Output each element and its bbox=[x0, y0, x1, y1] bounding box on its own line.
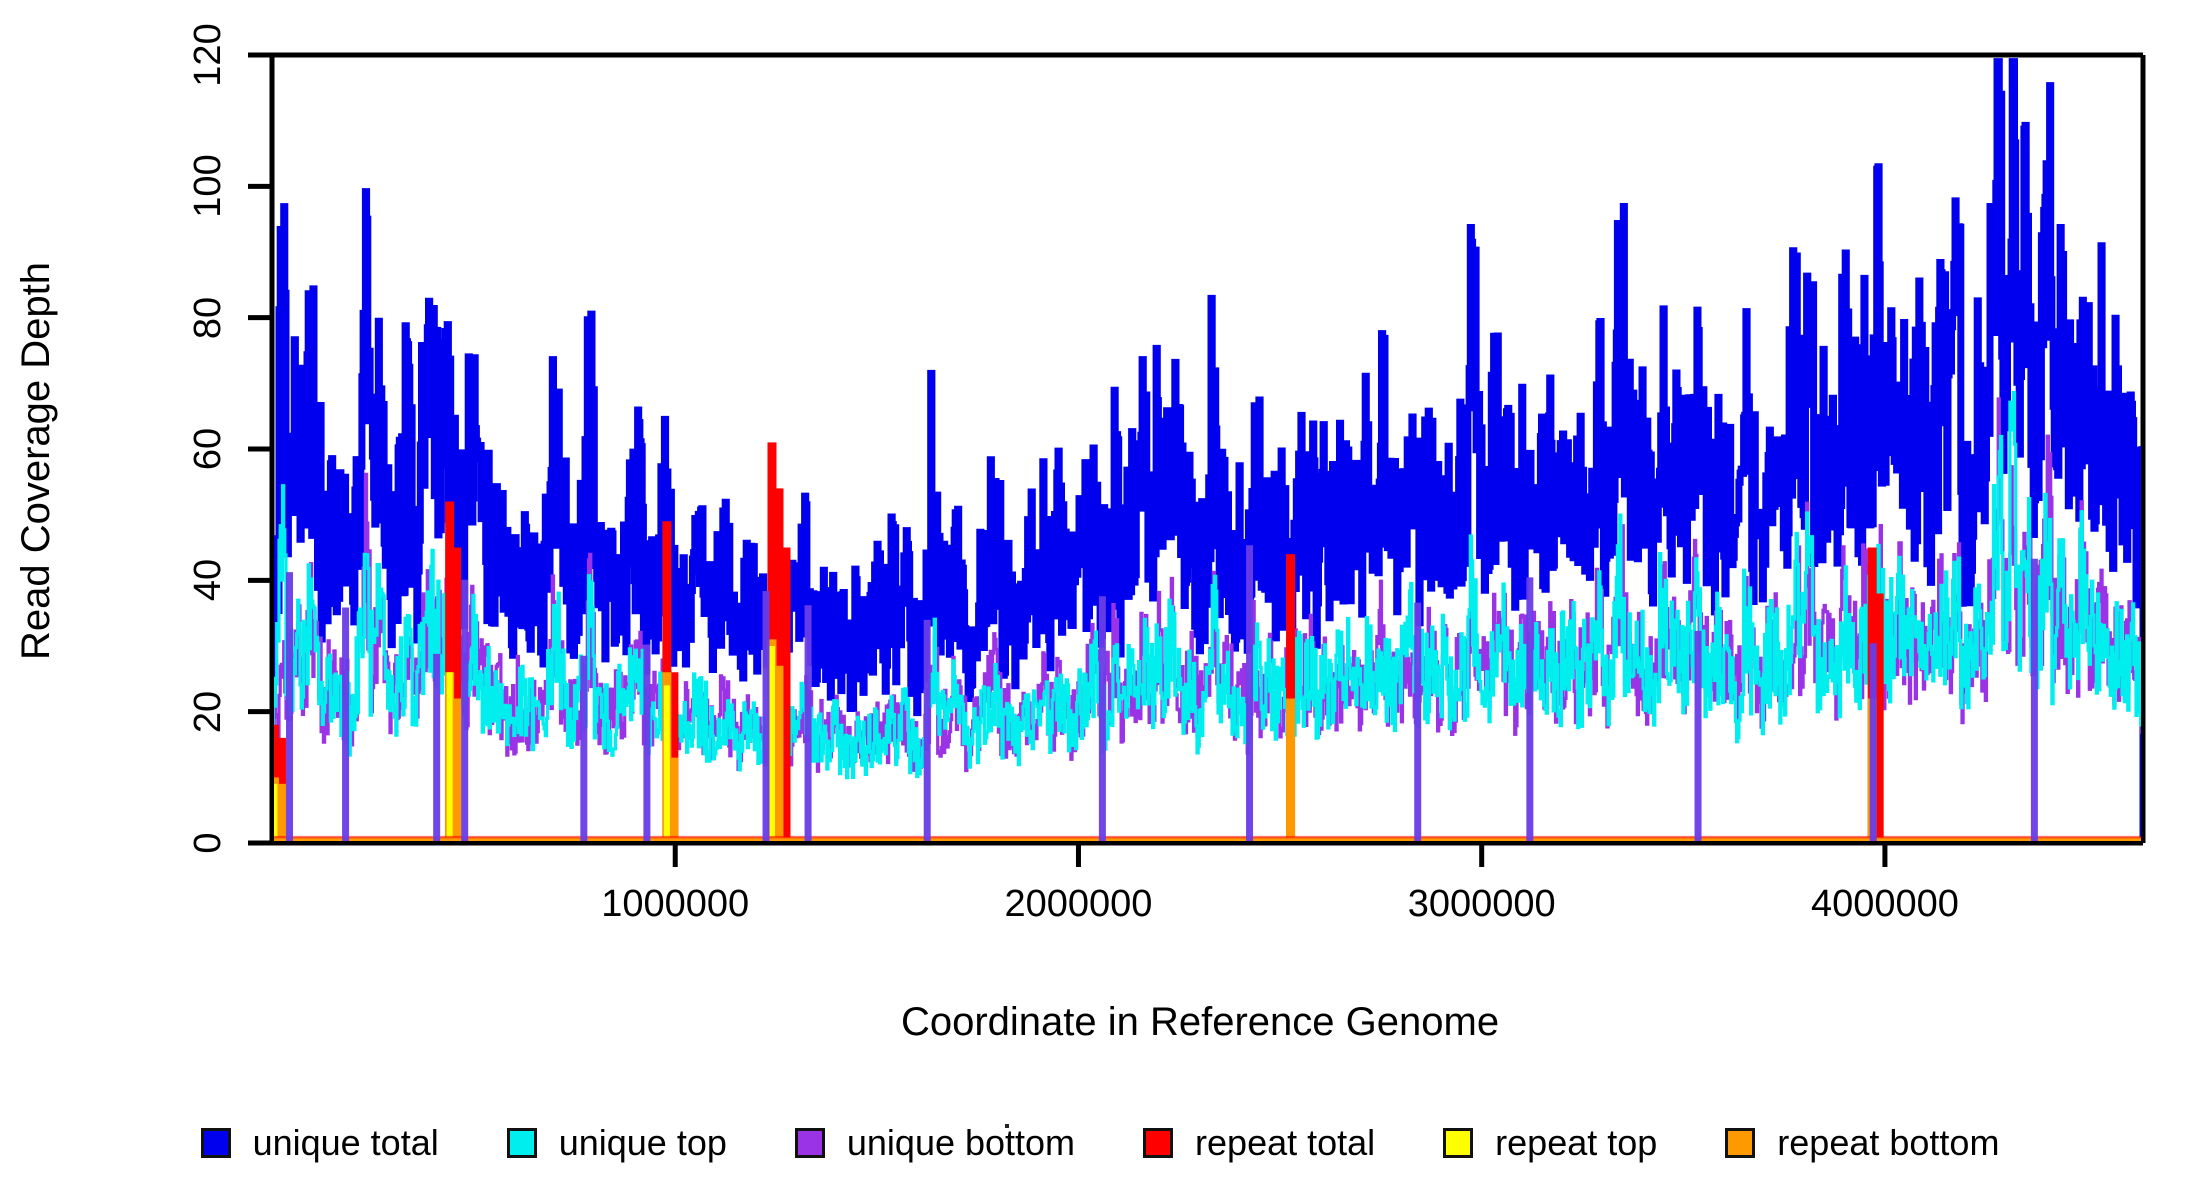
legend: unique totalunique topunique bottomrepea… bbox=[0, 1112, 2200, 1174]
legend-label: unique top bbox=[559, 1123, 727, 1163]
x-tick-label: 2000000 bbox=[928, 883, 1228, 926]
legend-swatch-icon bbox=[1143, 1128, 1173, 1158]
legend-swatch-icon bbox=[201, 1128, 231, 1158]
y-tick-label: 80 bbox=[186, 258, 230, 378]
y-tick-label: 0 bbox=[186, 783, 230, 903]
x-tick-label: 3000000 bbox=[1332, 883, 1632, 926]
legend-item-unique-top[interactable]: unique top bbox=[507, 1123, 727, 1163]
legend-label: repeat bottom bbox=[1777, 1123, 1999, 1163]
legend-swatch-icon bbox=[1443, 1128, 1473, 1158]
stray-dot-artifact bbox=[1005, 1124, 1009, 1128]
legend-swatch-icon bbox=[1725, 1128, 1755, 1158]
legend-label: repeat total bbox=[1195, 1123, 1375, 1163]
legend-item-repeat-top[interactable]: repeat top bbox=[1443, 1123, 1657, 1163]
y-tick-marks bbox=[248, 55, 272, 843]
legend-item-unique-bottom[interactable]: unique bottom bbox=[795, 1123, 1075, 1163]
x-tick-label: 1000000 bbox=[525, 883, 825, 926]
x-tick-marks bbox=[675, 843, 1885, 867]
coverage-traces bbox=[272, 62, 2200, 843]
y-tick-label: 60 bbox=[186, 389, 230, 509]
legend-label: unique total bbox=[253, 1123, 439, 1163]
plot-canvas bbox=[0, 0, 2200, 1200]
legend-label: repeat top bbox=[1495, 1123, 1657, 1163]
legend-swatch-icon bbox=[507, 1128, 537, 1158]
y-tick-label: 100 bbox=[186, 126, 230, 246]
y-tick-label: 20 bbox=[186, 652, 230, 772]
legend-item-repeat-bottom[interactable]: repeat bottom bbox=[1725, 1123, 1999, 1163]
legend-label: unique bottom bbox=[847, 1123, 1075, 1163]
legend-swatch-icon bbox=[795, 1128, 825, 1158]
coverage-plot-figure: Read Coverage Depth Coordinate in Refere… bbox=[0, 0, 2200, 1200]
series-unique-total bbox=[272, 62, 2143, 843]
legend-item-unique-total[interactable]: unique total bbox=[201, 1123, 439, 1163]
legend-item-repeat-total[interactable]: repeat total bbox=[1143, 1123, 1375, 1163]
x-tick-label: 4000000 bbox=[1735, 883, 2035, 926]
y-tick-label: 120 bbox=[186, 0, 230, 115]
y-tick-label: 40 bbox=[186, 520, 230, 640]
